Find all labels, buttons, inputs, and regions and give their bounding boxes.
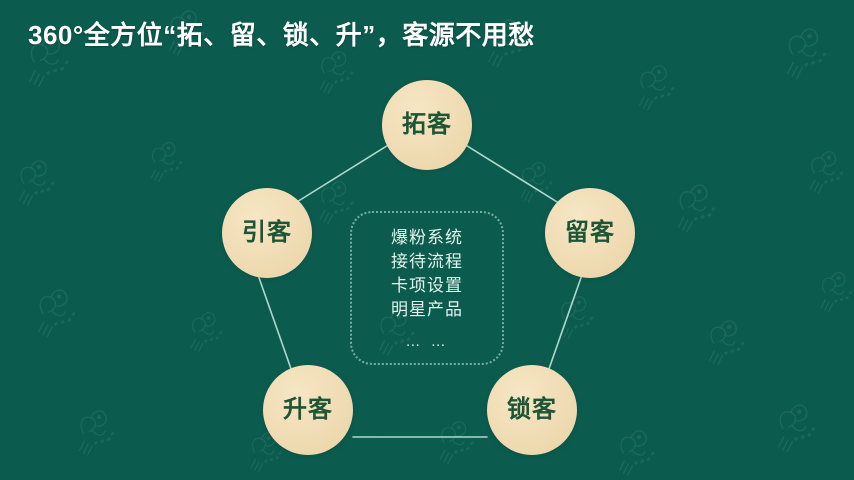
brand-watermark-icon bbox=[616, 44, 694, 117]
node-label: 拓客 bbox=[402, 113, 452, 137]
brand-watermark-icon bbox=[538, 276, 612, 345]
center-panel-ellipsis: … … bbox=[405, 330, 448, 354]
center-panel-item: 接待流程 bbox=[391, 250, 463, 274]
node-shengke[interactable]: 升客 bbox=[263, 365, 353, 455]
node-tuoke[interactable]: 拓客 bbox=[382, 80, 472, 170]
brand-watermark-icon bbox=[754, 382, 837, 459]
brand-watermark-icon bbox=[170, 294, 240, 359]
node-label: 留客 bbox=[565, 221, 615, 245]
center-panel-item: 明星产品 bbox=[391, 298, 463, 322]
brand-watermark-icon bbox=[56, 389, 134, 462]
slide-canvas: 360°全方位“拓、留、锁、升”，客源不用愁 爆粉系统 接待流程 卡项设置 明星… bbox=[0, 0, 854, 480]
edge-bl-to-left bbox=[257, 272, 296, 383]
brand-watermark-icon bbox=[788, 131, 854, 200]
edge-top-to-right bbox=[456, 139, 562, 205]
page-title: 360°全方位“拓、留、锁、升”，客源不用愁 bbox=[28, 18, 535, 52]
center-panel-item: 爆粉系统 bbox=[391, 226, 463, 250]
brand-watermark-icon bbox=[762, 5, 849, 86]
center-panel-item: 卡项设置 bbox=[391, 274, 463, 298]
edge-right-to-br bbox=[544, 272, 583, 383]
edge-left-to-top bbox=[292, 139, 398, 205]
brand-watermark-icon bbox=[14, 267, 97, 344]
node-label: 升客 bbox=[283, 398, 333, 422]
node-label: 引客 bbox=[242, 221, 292, 245]
center-content-panel: 爆粉系统 接待流程 卡项设置 明星产品 … … bbox=[350, 211, 504, 365]
brand-watermark-icon bbox=[130, 124, 200, 189]
brand-watermark-icon bbox=[654, 162, 737, 239]
brand-watermark-icon bbox=[0, 139, 74, 212]
brand-watermark-icon bbox=[418, 401, 492, 470]
brand-watermark-icon bbox=[686, 299, 764, 372]
node-yinke[interactable]: 引客 bbox=[222, 188, 312, 278]
brand-watermark-icon bbox=[596, 409, 674, 480]
node-label: 锁客 bbox=[507, 398, 557, 422]
brand-watermark-icon bbox=[800, 254, 854, 319]
node-liuke[interactable]: 留客 bbox=[545, 188, 635, 278]
node-suoke[interactable]: 锁客 bbox=[487, 365, 577, 455]
